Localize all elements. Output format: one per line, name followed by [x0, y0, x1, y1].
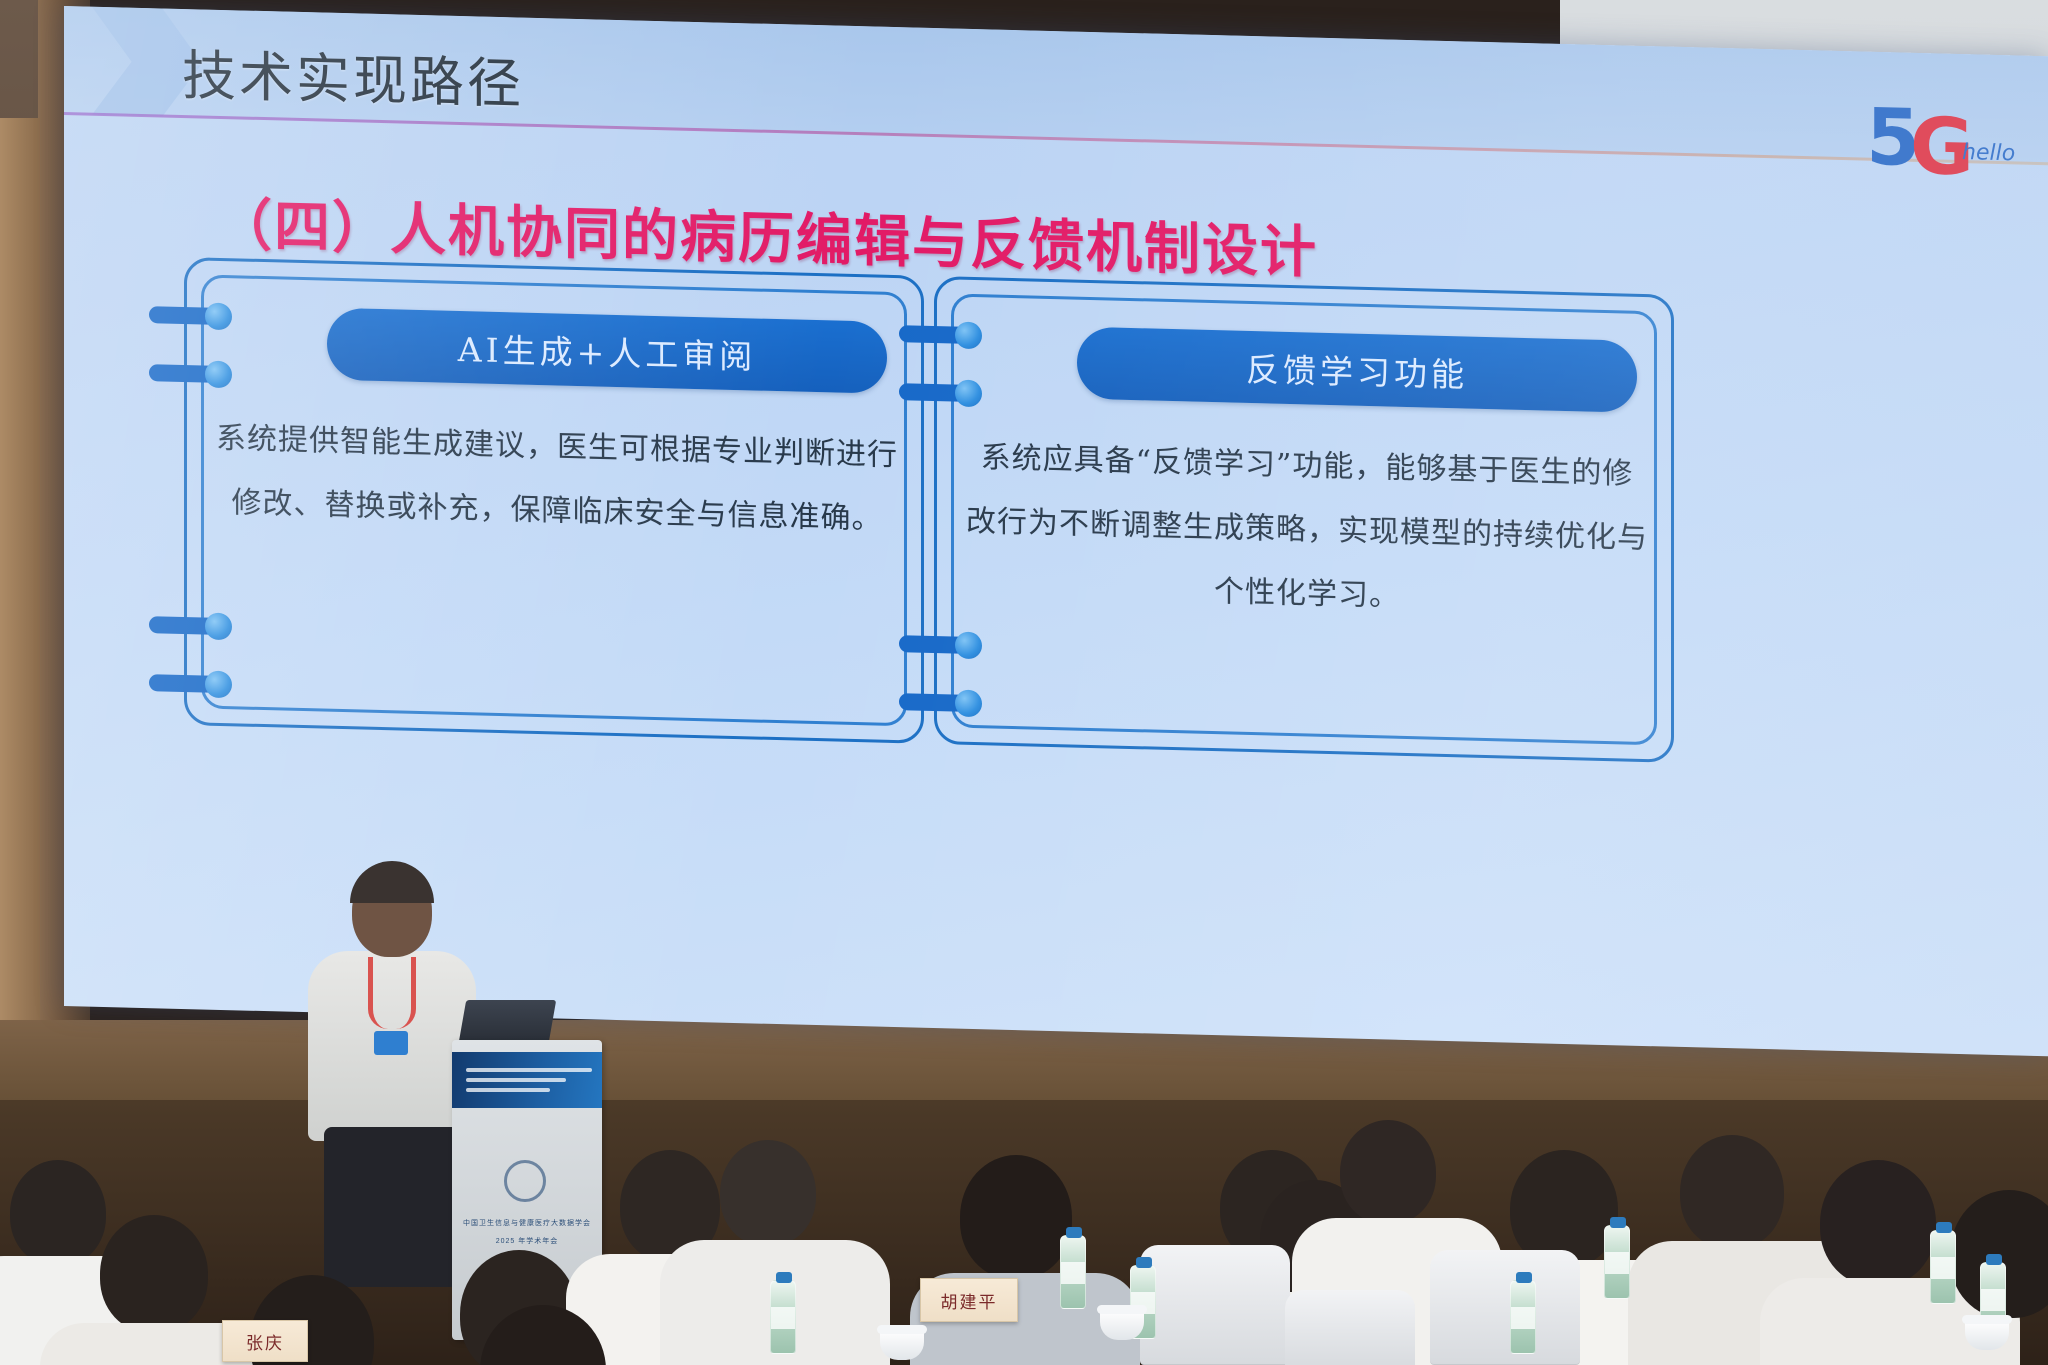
tea-cup: [880, 1330, 924, 1360]
tea-cup: [1100, 1310, 1144, 1340]
card-right-pill-label: 反馈学习功能: [1077, 327, 1637, 413]
binder-ring: [149, 611, 235, 639]
slide-header-title: 技术实现路径: [182, 31, 524, 119]
chair: [1430, 1250, 1580, 1365]
podium-subtext-1: 中国卫生信息与健康医疗大数据学会: [452, 1218, 602, 1228]
podium-banner: [452, 1052, 602, 1108]
binder-ring: [899, 320, 985, 348]
binder-ring: [899, 630, 985, 658]
name-card: 胡建平: [920, 1278, 1018, 1322]
water-bottle: [1604, 1225, 1630, 1299]
tea-cup: [1965, 1320, 2009, 1350]
binder-ring: [149, 669, 235, 697]
binder-ring: [149, 301, 235, 329]
presenter-badge: [374, 1031, 408, 1055]
card-left: AI生成+人工审阅 系统提供智能生成建议，医生可根据专业判断进行 修改、替换或补…: [184, 257, 924, 744]
binder-ring: [149, 359, 235, 387]
wood-column-secondary: [0, 118, 40, 1078]
water-bottle: [770, 1280, 796, 1354]
card-right: 反馈学习功能 系统应具备“反馈学习”功能，能够基于医生的修 改行为不断调整生成策…: [934, 276, 1674, 763]
water-bottle: [1510, 1280, 1536, 1354]
five-g-logo: 5 G hello: [1866, 100, 2026, 186]
logo-tagline: hello: [1962, 140, 2015, 166]
water-bottle: [1930, 1230, 1956, 1304]
podium-seal-icon: [504, 1160, 546, 1202]
name-card: 张庆: [222, 1320, 308, 1362]
binder-ring: [899, 688, 985, 716]
card-left-pill-label: AI生成+人工审阅: [327, 308, 887, 394]
water-bottle: [1060, 1235, 1086, 1309]
binder-ring: [899, 378, 985, 406]
podium-subtext-2: 2025 年学术年会: [452, 1236, 602, 1246]
chair: [1285, 1290, 1415, 1365]
chair: [1140, 1245, 1290, 1365]
